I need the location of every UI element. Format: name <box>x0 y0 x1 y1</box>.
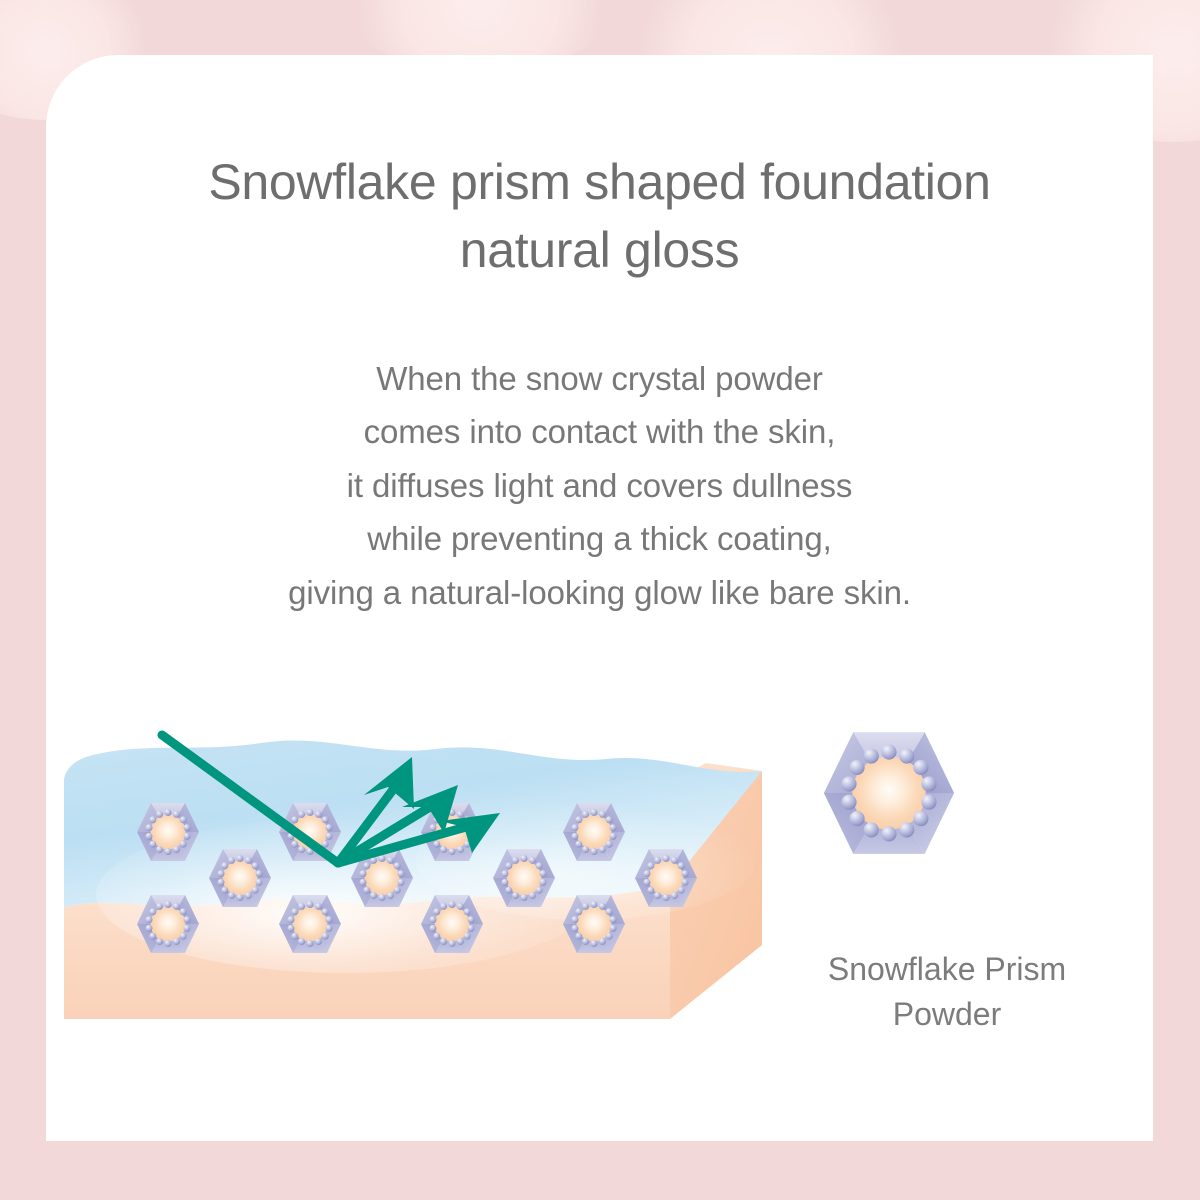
particle-caption-line-2: Powder <box>782 992 1112 1037</box>
page-title: Snowflake prism shaped foundation natura… <box>46 148 1153 284</box>
snowflake-prism-powder-icon <box>824 732 954 854</box>
body-line-5: giving a natural-looking glow like bare … <box>46 566 1153 619</box>
body-line-2: comes into contact with the skin, <box>46 405 1153 458</box>
headline-line-1: Snowflake prism shaped foundation <box>208 154 990 210</box>
body-line-1: When the snow crystal powder <box>46 352 1153 405</box>
body-line-3: it diffuses light and covers dullness <box>46 459 1153 512</box>
content-card: Snowflake prism shaped foundation natura… <box>46 55 1153 1141</box>
particle-caption: Snowflake Prism Powder <box>782 947 1112 1038</box>
body-paragraph: When the snow crystal powder comes into … <box>46 352 1153 619</box>
body-line-4: while preventing a thick coating, <box>46 512 1153 565</box>
headline-line-2: natural gloss <box>460 222 740 278</box>
particle-caption-line-1: Snowflake Prism <box>782 947 1112 992</box>
illustration-area: Snowflake Prism Powder <box>46 645 1153 1085</box>
product-infographic-page: Snowflake prism shaped foundation natura… <box>0 0 1200 1200</box>
